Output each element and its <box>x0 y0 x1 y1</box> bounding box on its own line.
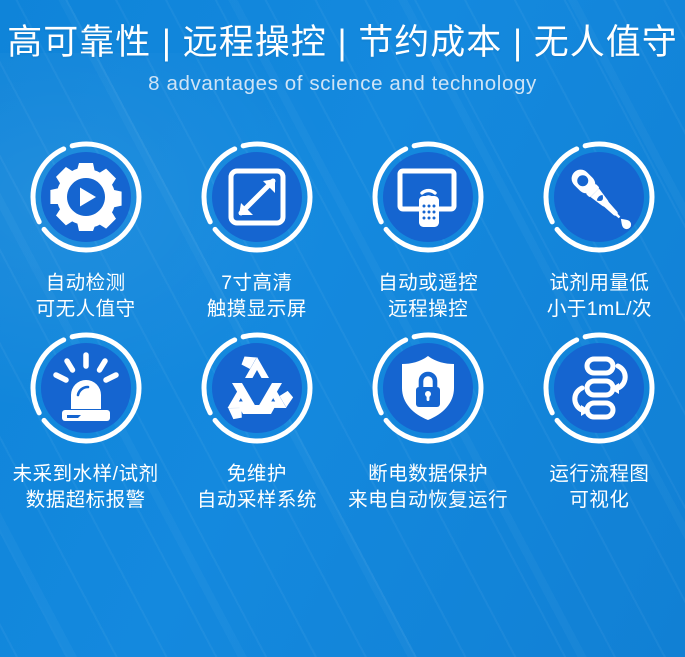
advantage-item: 7寸高清 触摸显示屏 <box>171 138 342 323</box>
shield-lock-icon <box>369 329 487 447</box>
expand-arrow-icon <box>198 138 316 256</box>
caption-line-2: 自动采样系统 <box>197 488 317 514</box>
page-subtitle: 8 advantages of science and technology <box>0 72 685 96</box>
caption-line-2: 数据超标报警 <box>13 488 159 514</box>
advantage-item: 免维护 自动采样系统 <box>171 329 342 514</box>
gear-play-icon <box>27 138 145 256</box>
advantage-item: 自动或遥控 远程操控 <box>343 138 514 323</box>
alarm-siren-icon <box>27 329 145 447</box>
caption-line-2: 可视化 <box>549 488 649 514</box>
caption-line-1: 7寸高清 <box>221 272 292 294</box>
advantage-caption: 试剂用量低 小于1mL/次 <box>547 271 652 323</box>
recycle-icon <box>198 329 316 447</box>
caption-line-1: 试剂用量低 <box>549 272 649 294</box>
advantage-item: 运行流程图 可视化 <box>514 329 685 514</box>
advantage-caption: 免维护 自动采样系统 <box>197 462 317 514</box>
caption-line-2: 可无人值守 <box>36 297 136 323</box>
remote-screen-icon <box>369 138 487 256</box>
advantage-item: 断电数据保护 来电自动恢复运行 <box>343 329 514 514</box>
caption-line-1: 自动或遥控 <box>378 272 478 294</box>
advantage-caption: 自动或遥控 远程操控 <box>378 271 478 323</box>
caption-line-2: 远程操控 <box>378 297 478 323</box>
advantage-caption: 自动检测 可无人值守 <box>36 271 136 323</box>
caption-line-2: 触摸显示屏 <box>207 297 307 323</box>
header: 高可靠性 | 远程操控 | 节约成本 | 无人值守 8 advantages o… <box>0 0 685 96</box>
advantage-caption: 未采到水样/试剂 数据超标报警 <box>13 462 159 514</box>
advantages-grid: 自动检测 可无人值守 7寸高清 触摸显示屏 <box>0 138 685 514</box>
dropper-icon <box>540 138 658 256</box>
flowchart-loop-icon <box>540 329 658 447</box>
advantage-caption: 运行流程图 可视化 <box>549 462 649 514</box>
advantage-item: 试剂用量低 小于1mL/次 <box>514 138 685 323</box>
caption-line-2: 来电自动恢复运行 <box>348 488 508 514</box>
caption-line-1: 断电数据保护 <box>368 463 488 485</box>
caption-line-1: 未采到水样/试剂 <box>13 463 159 485</box>
page-title: 高可靠性 | 远程操控 | 节约成本 | 无人值守 <box>0 22 685 63</box>
caption-line-1: 免维护 <box>227 463 287 485</box>
caption-line-1: 自动检测 <box>46 272 126 294</box>
caption-line-2: 小于1mL/次 <box>547 297 652 323</box>
advantage-item: 自动检测 可无人值守 <box>0 138 171 323</box>
caption-line-1: 运行流程图 <box>549 463 649 485</box>
advantage-caption: 断电数据保护 来电自动恢复运行 <box>348 462 508 514</box>
advantage-item: 未采到水样/试剂 数据超标报警 <box>0 329 171 514</box>
advantage-caption: 7寸高清 触摸显示屏 <box>207 271 307 323</box>
